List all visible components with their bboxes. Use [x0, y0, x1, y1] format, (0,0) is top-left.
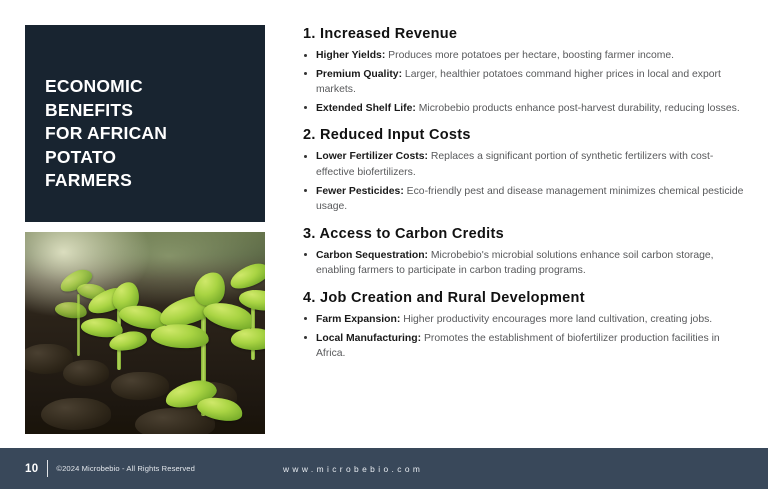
- section-bullet-list: Carbon Sequestration: Microbebio's micro…: [303, 248, 750, 279]
- list-item: Higher Yields: Produces more potatoes pe…: [303, 48, 750, 64]
- bullet-dot-icon: [304, 336, 307, 339]
- section-bullet-list: Lower Fertilizer Costs: Replaces a signi…: [303, 149, 750, 214]
- section-heading: 2. Reduced Input Costs: [303, 127, 750, 144]
- section-2: 2. Reduced Input Costs Lower Fertilizer …: [303, 127, 750, 214]
- bullet-dot-icon: [304, 72, 307, 75]
- soil-clod: [111, 372, 169, 400]
- bullet-dot-icon: [304, 155, 307, 158]
- bullet-label: Fewer Pesticides:: [316, 186, 404, 197]
- copyright-text: ©2024 Microbebio - All Rights Reserved: [56, 464, 195, 473]
- bullet-label: Extended Shelf Life:: [316, 103, 416, 114]
- left-column: ECONOMIC BENEFITS FOR AFRICAN POTATO FAR…: [25, 25, 265, 222]
- section-4: 4. Job Creation and Rural Development Fa…: [303, 290, 750, 362]
- benefits-content: 1. Increased Revenue Higher Yields: Prod…: [303, 26, 750, 362]
- plant-leaf: [227, 259, 265, 292]
- list-item: Premium Quality: Larger, healthier potat…: [303, 67, 750, 98]
- section-heading: 3. Access to Carbon Credits: [303, 226, 750, 243]
- bullet-dot-icon: [304, 317, 307, 320]
- slide-footer: 10 ©2024 Microbebio - All Rights Reserve…: [0, 448, 768, 489]
- bullet-label: Carbon Sequestration:: [316, 250, 428, 261]
- bullet-text: Higher productivity encourages more land…: [400, 314, 712, 325]
- bullet-dot-icon: [304, 106, 307, 109]
- bullet-label: Farm Expansion:: [316, 314, 400, 325]
- seedlings-photo: [25, 232, 265, 434]
- bullet-dot-icon: [304, 253, 307, 256]
- soil-clod: [41, 398, 111, 430]
- list-item: Carbon Sequestration: Microbebio's micro…: [303, 248, 750, 279]
- footer-divider: [47, 460, 48, 477]
- section-bullet-list: Higher Yields: Produces more potatoes pe…: [303, 48, 750, 116]
- plant-leaf: [54, 299, 88, 320]
- list-item: Lower Fertilizer Costs: Replaces a signi…: [303, 149, 750, 180]
- section-heading: 4. Job Creation and Rural Development: [303, 290, 750, 307]
- bullet-text: Produces more potatoes per hectare, boos…: [385, 50, 674, 61]
- plant-leaf: [230, 326, 265, 351]
- bullet-label: Premium Quality:: [316, 69, 402, 80]
- list-item: Fewer Pesticides: Eco-friendly pest and …: [303, 184, 750, 215]
- list-item: Local Manufacturing: Promotes the establ…: [303, 331, 750, 362]
- website-url: www.microbebio.com: [283, 464, 423, 474]
- title-box: ECONOMIC BENEFITS FOR AFRICAN POTATO FAR…: [25, 25, 265, 222]
- photo-image: [25, 232, 265, 434]
- list-item: Extended Shelf Life: Microbebio products…: [303, 101, 750, 117]
- section-bullet-list: Farm Expansion: Higher productivity enco…: [303, 312, 750, 362]
- bullet-dot-icon: [304, 54, 307, 57]
- bullet-dot-icon: [304, 189, 307, 192]
- bullet-label: Lower Fertilizer Costs:: [316, 151, 428, 162]
- section-heading: 1. Increased Revenue: [303, 26, 750, 43]
- page-title: ECONOMIC BENEFITS FOR AFRICAN POTATO FAR…: [45, 75, 265, 193]
- section-1: 1. Increased Revenue Higher Yields: Prod…: [303, 26, 750, 116]
- bullet-text: Microbebio products enhance post-harvest…: [416, 103, 740, 114]
- bullet-label: Higher Yields:: [316, 50, 385, 61]
- soil-clod: [63, 360, 109, 386]
- list-item: Farm Expansion: Higher productivity enco…: [303, 312, 750, 328]
- bullet-label: Local Manufacturing:: [316, 333, 421, 344]
- section-3: 3. Access to Carbon Credits Carbon Seque…: [303, 226, 750, 279]
- page-number: 10: [25, 463, 38, 475]
